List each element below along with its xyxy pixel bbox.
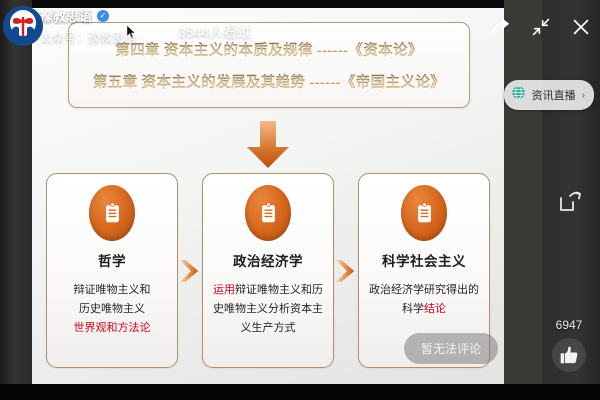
card-title: 哲学 bbox=[98, 250, 126, 270]
card-body: 政治经济学研究得出的科学结论 bbox=[359, 281, 489, 319]
top-right-controls bbox=[488, 14, 594, 40]
close-icon[interactable] bbox=[568, 14, 594, 40]
clipboard-icon bbox=[245, 185, 291, 241]
player-left-rail bbox=[0, 0, 32, 400]
card-body-highlight: 运用 bbox=[213, 284, 235, 296]
down-arrow-icon bbox=[245, 121, 291, 169]
comment-disabled-pill[interactable]: 暂无法评论 bbox=[404, 333, 498, 364]
minimize-icon[interactable] bbox=[528, 14, 554, 40]
globe-icon bbox=[511, 85, 526, 105]
concept-card-philosophy[interactable]: 哲学 辩证唯物主义和 历史唯物主义 世界观和方法论 bbox=[46, 173, 178, 368]
live-news-label: 资讯直播 bbox=[532, 87, 576, 103]
like-count-label: 6947 bbox=[556, 318, 583, 332]
card-body: 辩证唯物主义和 历史唯物主义 世界观和方法论 bbox=[65, 281, 160, 338]
clipboard-icon bbox=[401, 185, 447, 241]
concept-card-political-economy[interactable]: 政治经济学 运用辩证唯物主义和历史唯物主义分析资本主义生产方式 bbox=[202, 173, 334, 368]
slide-title-line-2: 第五章 资本主义的发展及其趋势 ------《帝国主义论》 bbox=[93, 71, 445, 92]
chevron-arrow-icon-2 bbox=[334, 173, 358, 368]
slide-title-line-1: 第四章 资本主义的本质及规律 ------《资本论》 bbox=[115, 39, 423, 60]
card-body-highlight: 结论 bbox=[424, 303, 446, 315]
share-icon[interactable] bbox=[488, 14, 514, 40]
card-title: 科学社会主义 bbox=[382, 250, 466, 270]
chevron-arrow-icon-1 bbox=[178, 173, 202, 368]
forward-icon[interactable] bbox=[558, 188, 584, 214]
card-body-line: 辩证唯物主义和 bbox=[74, 284, 151, 296]
card-body: 运用辩证唯物主义和历史唯物主义分析资本主义生产方式 bbox=[203, 281, 333, 338]
like-control: 6947 bbox=[550, 318, 588, 372]
slide-title-box: 第四章 资本主义的本质及规律 ------《资本论》 第五章 资本主义的发展及其… bbox=[68, 22, 470, 108]
chevron-right-icon: › bbox=[582, 90, 585, 101]
avatar[interactable] bbox=[3, 6, 43, 46]
player-bottom-bar bbox=[0, 384, 600, 400]
slide-canvas: 第四章 资本主义的本质及规律 ------《资本论》 第五章 资本主义的发展及其… bbox=[32, 8, 504, 384]
card-title: 政治经济学 bbox=[233, 250, 303, 270]
clipboard-icon bbox=[89, 185, 135, 241]
player-mid-rail bbox=[504, 0, 542, 400]
live-news-button[interactable]: 资讯直播 › bbox=[504, 80, 594, 110]
video-player: 第四章 资本主义的本质及规律 ------《资本论》 第五章 资本主义的发展及其… bbox=[0, 0, 600, 400]
card-body-line: 历史唯物主义 bbox=[79, 303, 145, 315]
card-body-highlight: 世界观和方法论 bbox=[74, 322, 151, 334]
thumbs-up-icon[interactable] bbox=[552, 338, 586, 372]
